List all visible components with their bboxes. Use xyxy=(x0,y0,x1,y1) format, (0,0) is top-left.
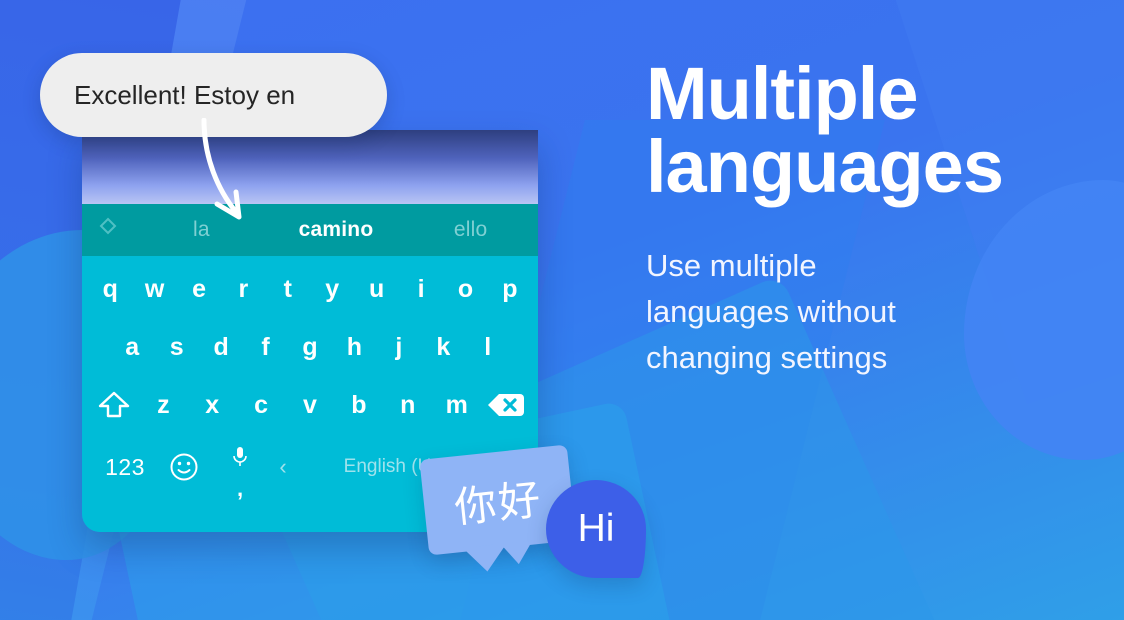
phone-screen-area xyxy=(82,130,538,204)
callout-bubble: Excellent! Estoy en xyxy=(40,53,387,137)
keyboard-row-1: q w e r t y u i o p xyxy=(82,260,538,318)
marketing-copy: Multiple languages Use multiple language… xyxy=(646,58,1066,381)
key-k[interactable]: k xyxy=(421,335,465,360)
suggestion-word-3[interactable]: ello xyxy=(403,218,538,242)
key-b[interactable]: b xyxy=(334,393,383,418)
key-r[interactable]: r xyxy=(221,277,265,302)
key-m[interactable]: m xyxy=(432,393,481,418)
key-h[interactable]: h xyxy=(332,335,376,360)
shift-arrow-icon[interactable] xyxy=(90,390,139,420)
chevron-left-icon[interactable]: ‹ xyxy=(272,454,294,480)
suggestion-bar: la camino ello xyxy=(82,204,538,256)
key-j[interactable]: j xyxy=(377,335,421,360)
keyboard-row-2: a s d f g h j k l xyxy=(82,318,538,376)
keyboard-row-3: z x c v b n m xyxy=(82,376,538,434)
key-a[interactable]: a xyxy=(110,335,154,360)
key-n[interactable]: n xyxy=(383,393,432,418)
key-e[interactable]: e xyxy=(177,277,221,302)
key-d[interactable]: d xyxy=(199,335,243,360)
chevron-expand-icon[interactable] xyxy=(82,217,134,243)
key-z[interactable]: z xyxy=(139,393,188,418)
microphone-key[interactable]: , xyxy=(212,446,268,489)
key-q[interactable]: q xyxy=(88,277,132,302)
key-y[interactable]: y xyxy=(310,277,354,302)
key-u[interactable]: u xyxy=(354,277,398,302)
key-v[interactable]: v xyxy=(286,393,335,418)
key-w[interactable]: w xyxy=(132,277,176,302)
subheadline: Use multiple languages without changing … xyxy=(646,243,1066,381)
numbers-key[interactable]: 123 xyxy=(94,454,156,481)
chat-bubble-english: Hi xyxy=(546,480,646,578)
key-f[interactable]: f xyxy=(243,335,287,360)
key-o[interactable]: o xyxy=(443,277,487,302)
key-p[interactable]: p xyxy=(488,277,532,302)
key-i[interactable]: i xyxy=(399,277,443,302)
key-l[interactable]: l xyxy=(466,335,510,360)
suggestion-word-2[interactable]: camino xyxy=(269,218,404,242)
callout-text: Excellent! Estoy en xyxy=(40,80,295,111)
key-g[interactable]: g xyxy=(288,335,332,360)
promo-banner: la camino ello q w e r t y u i o p a s d… xyxy=(0,0,1124,620)
suggestion-word-1[interactable]: la xyxy=(134,218,269,242)
key-c[interactable]: c xyxy=(237,393,286,418)
microphone-icon xyxy=(232,446,248,475)
smiley-icon[interactable] xyxy=(156,452,212,482)
key-t[interactable]: t xyxy=(266,277,310,302)
backspace-icon[interactable] xyxy=(481,390,530,420)
headline: Multiple languages xyxy=(646,58,1066,203)
key-s[interactable]: s xyxy=(154,335,198,360)
chat-bubble-english-text: Hi xyxy=(546,480,646,578)
key-x[interactable]: x xyxy=(188,393,237,418)
